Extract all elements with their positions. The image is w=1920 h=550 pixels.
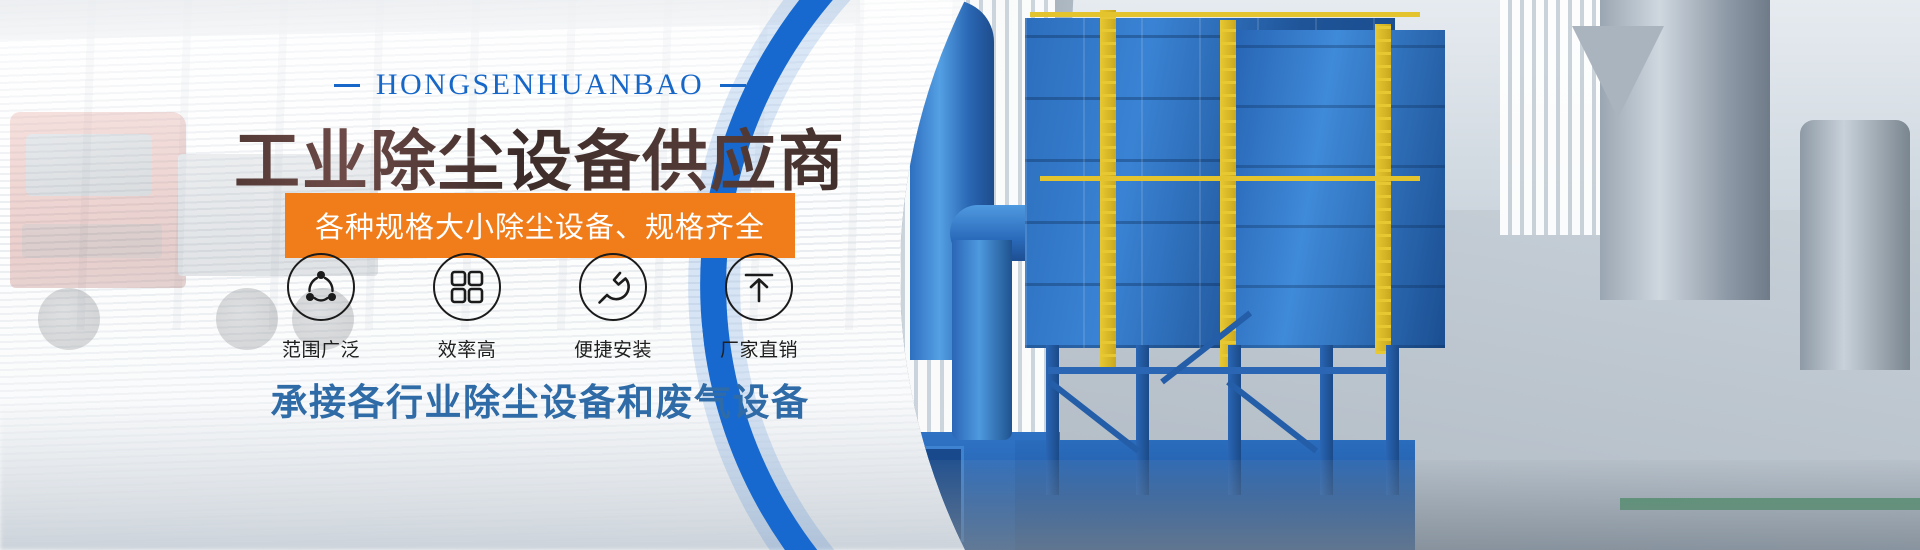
grid-squares-icon (448, 268, 486, 306)
feature-list: 范围广泛 效率高 (0, 253, 1080, 362)
feature-label: 便捷安装 (571, 335, 655, 362)
feature-item-scope: 范围广泛 (279, 253, 363, 362)
bottom-slogan: 承接各行业除尘设备和废气设备 (0, 372, 1080, 426)
share-nodes-icon (301, 267, 341, 307)
orange-slogan-bar: 各种规格大小除尘设备、规格齐全 (285, 193, 795, 258)
hero-banner: HONGSENHUANBAO 工业除尘设备供应商 各种规格大小除尘设备、规格齐全 (0, 0, 1920, 550)
feature-label: 效率高 (425, 335, 509, 362)
feature-icon-circle (725, 253, 793, 321)
dash-right-icon (720, 84, 746, 87)
orange-slogan-wrap: 各种规格大小除尘设备、规格齐全 (0, 193, 1080, 258)
feature-icon-circle (579, 253, 647, 321)
up-arrow-icon (740, 268, 778, 306)
feature-icon-circle (433, 253, 501, 321)
feature-icon-circle (287, 253, 355, 321)
english-tagline: HONGSENHUANBAO (376, 68, 704, 102)
feature-item-installation: 便捷安装 (571, 253, 655, 362)
banner-content: HONGSENHUANBAO 工业除尘设备供应商 各种规格大小除尘设备、规格齐全 (0, 0, 1080, 550)
feature-item-efficiency: 效率高 (425, 253, 509, 362)
english-tagline-row: HONGSENHUANBAO (0, 68, 1080, 102)
feature-label: 范围广泛 (279, 335, 363, 362)
feature-item-direct-sales: 厂家直销 (717, 253, 801, 362)
wrench-tool-icon (593, 267, 633, 307)
cyclone-vessel (1800, 120, 1910, 370)
feature-label: 厂家直销 (717, 335, 801, 362)
page-title: 工业除尘设备供应商 (0, 108, 1080, 204)
dash-left-icon (334, 84, 360, 87)
